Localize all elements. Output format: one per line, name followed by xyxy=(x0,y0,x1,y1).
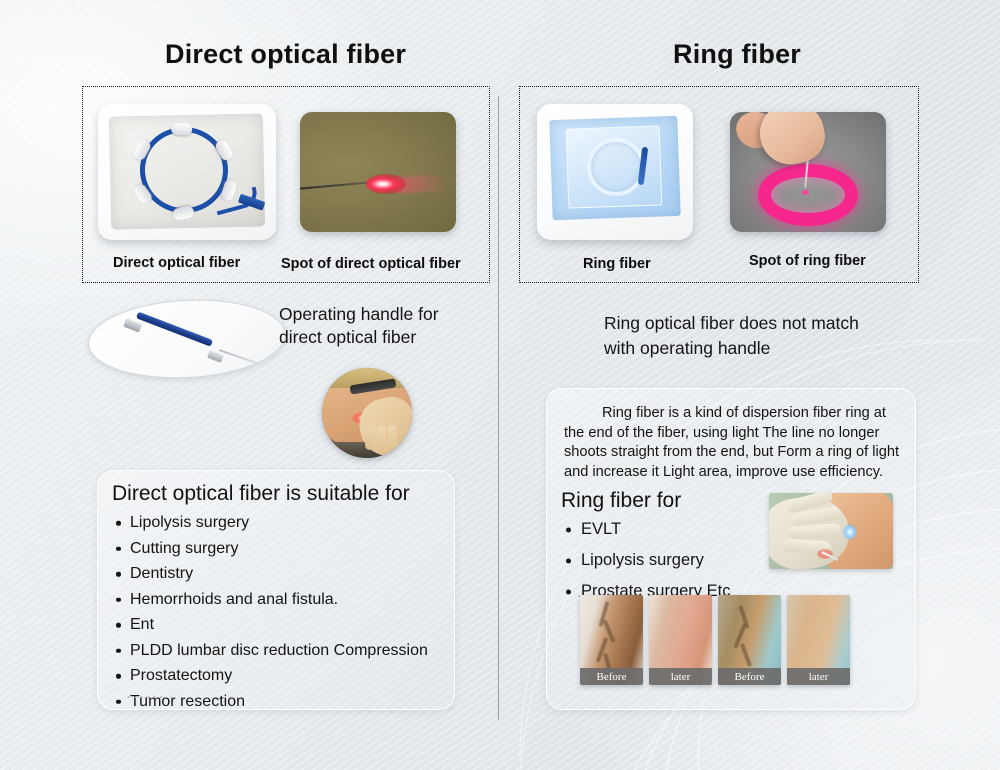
caption-ring-fiber: Ring fiber xyxy=(583,256,651,272)
bullet-dot xyxy=(116,699,121,704)
caption-ring-fiber-spot: Spot of ring fiber xyxy=(749,253,866,269)
operating-handle-label: Operating handle for direct optical fibe… xyxy=(279,303,439,349)
bullet-dot xyxy=(566,558,571,563)
before-after-strip: Before later Before later xyxy=(580,595,850,685)
handle-ferrule xyxy=(123,318,142,332)
direct-fiber-uses-heading: Direct optical fiber is suitable for xyxy=(112,482,410,506)
ring-fiber-description: Ring fiber is a kind of dispersion fiber… xyxy=(564,404,904,482)
coil-clip xyxy=(171,122,193,136)
ring-fiber-info-box: Ring fiber is a kind of dispersion fiber… xyxy=(546,388,916,710)
list-item-label: Ent xyxy=(130,616,154,633)
list-item-label: PLDD lumbar disc reduction Compression xyxy=(130,642,428,659)
list-item-label: Lipolysis surgery xyxy=(581,551,704,569)
bullet-dot xyxy=(116,674,121,679)
list-item: Lipolysis surgery xyxy=(581,551,730,570)
list-item: Lipolysis surgery xyxy=(130,514,428,532)
ring-fiber-coil xyxy=(586,137,646,197)
ba-label: Before xyxy=(718,668,781,685)
laser-center-dot xyxy=(802,190,809,195)
right-panel-title: Ring fiber xyxy=(673,39,801,70)
handle-ferrule xyxy=(207,350,224,363)
direct-fiber-uses-list: Lipolysis surgery Cutting surgery Dentis… xyxy=(130,514,428,718)
ring-fiber-uses-heading: Ring fiber for xyxy=(561,489,681,513)
ring-fiber-laser-spot-photo xyxy=(730,112,886,232)
sterile-package xyxy=(549,116,680,220)
bullet-dot xyxy=(116,546,121,551)
list-item: Cutting surgery xyxy=(130,540,428,558)
bullet-dot xyxy=(566,527,571,532)
list-item: Ent xyxy=(130,616,428,634)
list-item: Prostatectomy xyxy=(130,667,428,685)
pink-laser-ring xyxy=(758,164,858,226)
list-item: EVLT xyxy=(581,520,730,539)
list-item: Dentistry xyxy=(130,565,428,583)
bullet-dot xyxy=(116,521,121,526)
varicose-vein xyxy=(740,643,752,667)
finger xyxy=(377,426,387,452)
finger xyxy=(387,425,397,451)
ba-label: Before xyxy=(580,668,643,685)
varicose-leg-before-2: Before xyxy=(718,595,781,685)
list-item-label: Cutting surgery xyxy=(130,540,239,557)
red-laser-dot xyxy=(366,174,406,194)
direct-fiber-laser-spot-photo xyxy=(300,112,456,232)
list-item-label: Hemorrhoids and anal fistula. xyxy=(130,591,338,608)
panel-divider xyxy=(498,96,499,720)
facial-treatment-photo xyxy=(322,368,412,458)
coil-clip xyxy=(172,205,195,221)
operating-handle-photo xyxy=(86,295,288,383)
ba-label: later xyxy=(649,668,712,685)
ba-label: later xyxy=(787,668,850,685)
bullet-dot xyxy=(116,597,121,602)
caption-direct-fiber-spot: Spot of direct optical fiber xyxy=(281,256,461,272)
package-inner-tray xyxy=(566,125,663,208)
list-item-label: Lipolysis surgery xyxy=(130,514,249,531)
varicose-leg-after-1: later xyxy=(649,595,712,685)
bullet-dot xyxy=(116,648,121,653)
blue-laser-glow xyxy=(843,524,857,540)
leg-treatment-photo xyxy=(769,493,893,569)
list-item: PLDD lumbar disc reduction Compression xyxy=(130,642,428,660)
direct-fiber-uses-box: Direct optical fiber is suitable for Lip… xyxy=(97,470,455,710)
bullet-dot xyxy=(116,623,121,628)
list-item-label: Prostatectomy xyxy=(130,667,232,684)
varicose-leg-after-2: later xyxy=(787,595,850,685)
varicose-leg-before-1: Before xyxy=(580,595,643,685)
list-item-label: EVLT xyxy=(581,520,621,538)
uses-ellipsis: ······ xyxy=(126,688,165,705)
direct-fiber-coil-photo xyxy=(98,104,276,240)
bullet-dot xyxy=(116,572,121,577)
fiber-tray xyxy=(109,113,265,229)
list-item-label: Dentistry xyxy=(130,565,193,582)
spot-background xyxy=(300,112,456,232)
bullet-dot xyxy=(566,589,571,594)
list-item: Tumor resection xyxy=(130,693,428,711)
ring-fiber-package-photo xyxy=(537,104,693,240)
handle-body xyxy=(136,312,213,347)
list-item: Hemorrhoids and anal fistula. xyxy=(130,591,428,609)
ring-fiber-no-match-note: Ring optical fiber does not match with o… xyxy=(604,311,859,361)
handle-needle xyxy=(219,349,261,365)
infographic-page: Direct optical fiber Ring fiber Direct o… xyxy=(0,0,1000,770)
caption-direct-fiber: Direct optical fiber xyxy=(113,255,240,271)
left-panel-title: Direct optical fiber xyxy=(165,39,406,70)
